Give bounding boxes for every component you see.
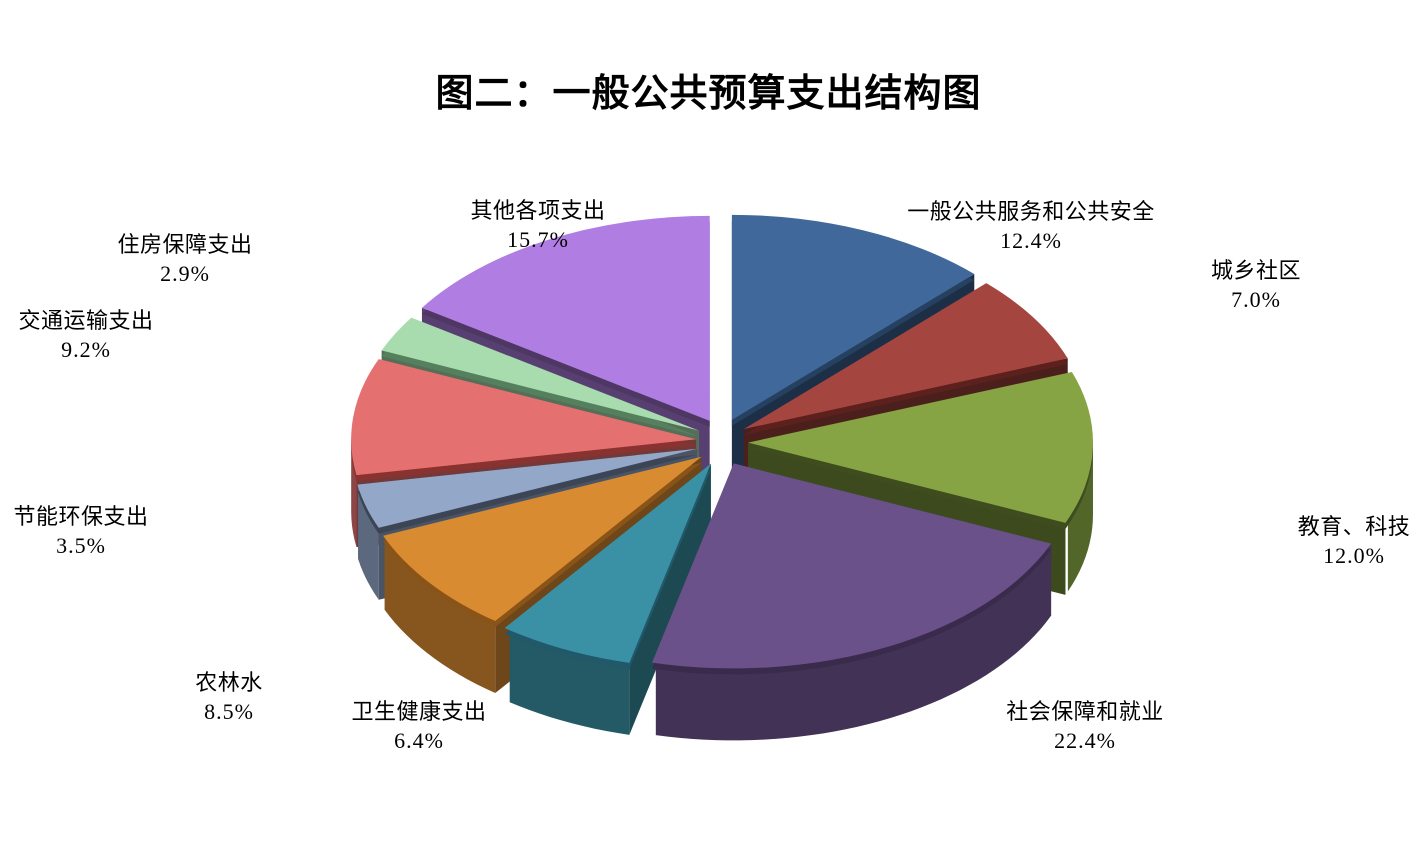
pie-label-name: 农林水 — [195, 668, 263, 697]
pie-label-3: 教育、科技12.0% — [1298, 512, 1411, 570]
pie-label-percent: 6.4% — [351, 726, 486, 755]
pie-label-4: 社会保障和就业22.4% — [1006, 697, 1164, 755]
pie-label-percent: 15.7% — [470, 225, 605, 254]
pie-label-percent: 12.4% — [907, 226, 1155, 255]
pie-label-percent: 22.4% — [1006, 726, 1164, 755]
pie-label-7: 节能环保支出3.5% — [13, 502, 148, 560]
pie-label-name: 一般公共服务和公共安全 — [907, 197, 1155, 226]
pie-label-percent: 9.2% — [18, 335, 153, 364]
pie-label-5: 卫生健康支出6.4% — [351, 697, 486, 755]
pie-label-8: 交通运输支出9.2% — [18, 306, 153, 364]
pie-label-2: 城乡社区7.0% — [1211, 256, 1301, 314]
pie-label-name: 城乡社区 — [1211, 256, 1301, 285]
pie-label-1: 一般公共服务和公共安全12.4% — [907, 197, 1155, 255]
pie-label-percent: 8.5% — [195, 697, 263, 726]
pie-label-percent: 3.5% — [13, 531, 148, 560]
pie-label-name: 卫生健康支出 — [351, 697, 486, 726]
pie-label-10: 其他各项支出15.7% — [470, 196, 605, 254]
pie-label-name: 节能环保支出 — [13, 502, 148, 531]
pie-label-name: 住房保障支出 — [117, 230, 252, 259]
pie-label-percent: 2.9% — [117, 259, 252, 288]
pie-label-percent: 12.0% — [1298, 541, 1411, 570]
pie-label-percent: 7.0% — [1211, 285, 1301, 314]
pie-label-name: 教育、科技 — [1298, 512, 1411, 541]
chart-page: 图二：一般公共预算支出结构图 一般公共服务和公共安全12.4%城乡社区7.0%教… — [0, 0, 1417, 854]
pie-label-name: 其他各项支出 — [470, 196, 605, 225]
pie-label-9: 住房保障支出2.9% — [117, 230, 252, 288]
pie-label-6: 农林水8.5% — [195, 668, 263, 726]
pie-label-name: 交通运输支出 — [18, 306, 153, 335]
pie-label-name: 社会保障和就业 — [1006, 697, 1164, 726]
